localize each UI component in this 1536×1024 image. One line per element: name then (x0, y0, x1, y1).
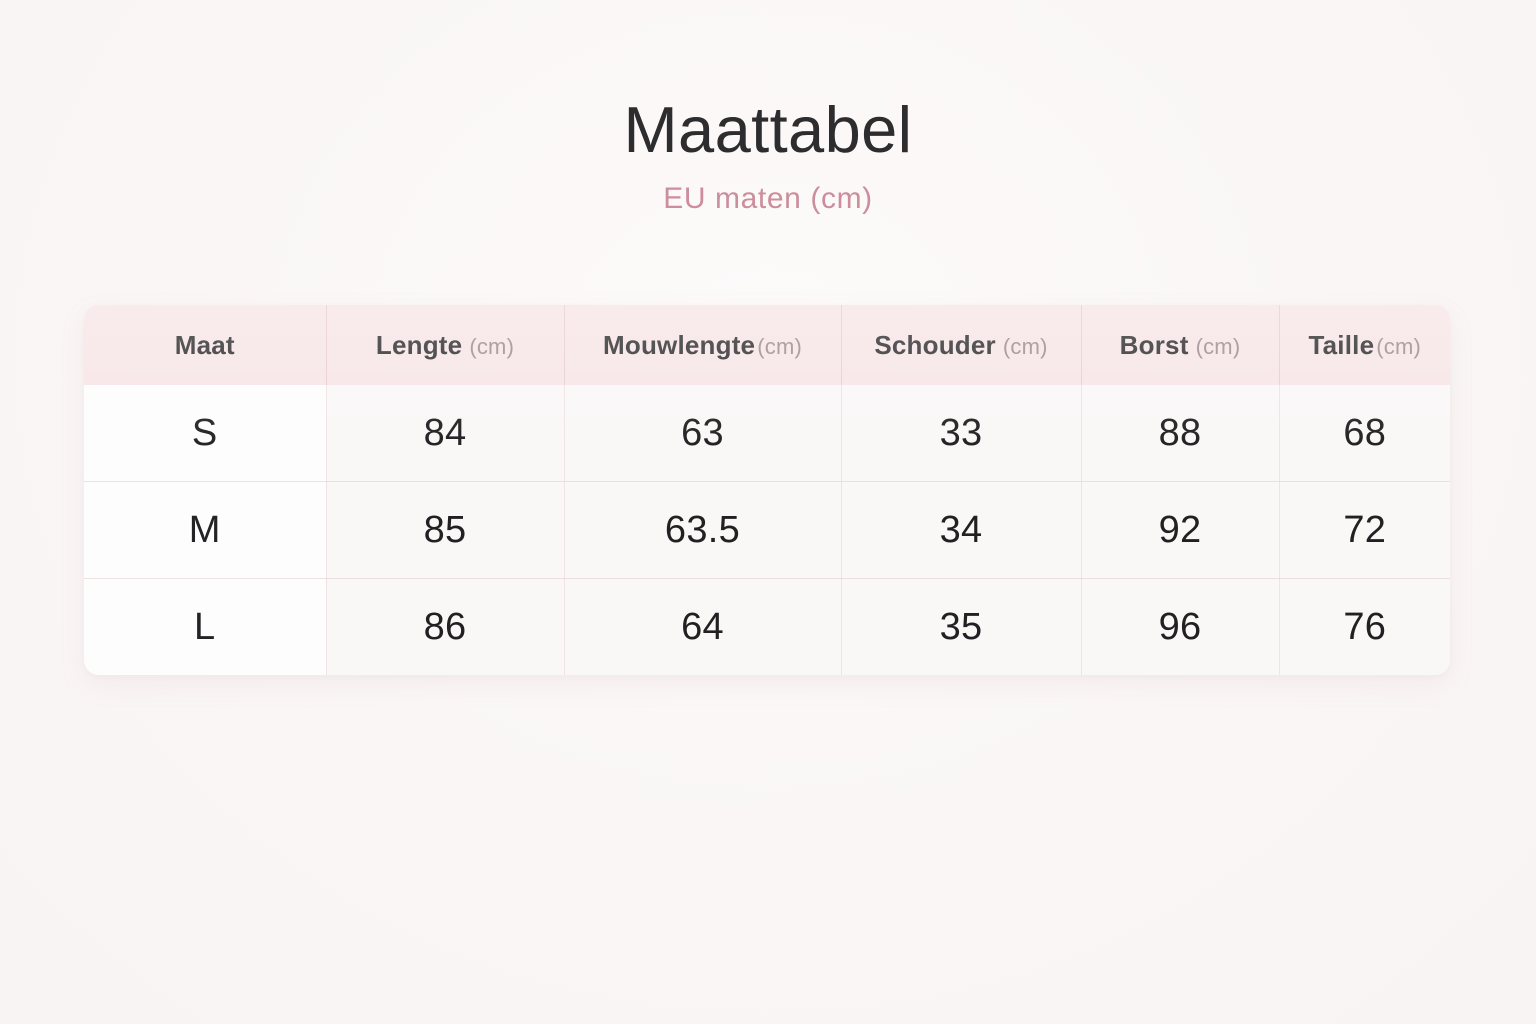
cell-taille: 68 (1279, 385, 1450, 482)
table-row: S 84 63 33 88 68 (84, 385, 1450, 482)
table-row: L 86 64 35 96 76 (84, 579, 1450, 676)
table-header-row: Maat Lengte(cm) Mouwlengte(cm) Schouder(… (84, 305, 1450, 385)
cell-mouwlengte: 63 (564, 385, 841, 482)
cell-schouder: 33 (841, 385, 1081, 482)
column-header-lengte-label: Lengte (376, 330, 462, 360)
column-header-taille: Taille(cm) (1279, 305, 1450, 385)
cell-schouder: 34 (841, 482, 1081, 579)
page-subtitle: EU maten (cm) (0, 182, 1536, 215)
column-header-schouder: Schouder(cm) (841, 305, 1081, 385)
column-header-borst-label: Borst (1120, 330, 1189, 360)
column-header-maat: Maat (84, 305, 326, 385)
page-title: Maattabel (0, 96, 1536, 164)
column-header-mouwlengte-label: Mouwlengte (603, 330, 755, 360)
cell-lengte: 85 (326, 482, 564, 579)
cell-mouwlengte: 64 (564, 579, 841, 676)
size-chart-page: Maattabel EU maten (cm) Maat Lengte(cm) … (0, 0, 1536, 1024)
cell-maat: S (84, 385, 326, 482)
column-header-taille-label: Taille (1308, 330, 1374, 360)
cell-borst: 88 (1081, 385, 1279, 482)
cell-schouder: 35 (841, 579, 1081, 676)
column-header-schouder-unit: (cm) (1003, 334, 1048, 359)
cell-maat: L (84, 579, 326, 676)
cell-maat: M (84, 482, 326, 579)
heading-block: Maattabel EU maten (cm) (0, 96, 1536, 215)
table-header: Maat Lengte(cm) Mouwlengte(cm) Schouder(… (84, 305, 1450, 385)
cell-mouwlengte: 63.5 (564, 482, 841, 579)
cell-lengte: 84 (326, 385, 564, 482)
cell-taille: 72 (1279, 482, 1450, 579)
cell-taille: 76 (1279, 579, 1450, 676)
column-header-borst: Borst(cm) (1081, 305, 1279, 385)
table-row: M 85 63.5 34 92 72 (84, 482, 1450, 579)
cell-borst: 96 (1081, 579, 1279, 676)
column-header-maat-label: Maat (175, 330, 235, 360)
column-header-schouder-label: Schouder (874, 330, 996, 360)
column-header-mouwlengte-unit: (cm) (757, 334, 802, 359)
column-header-borst-unit: (cm) (1196, 334, 1241, 359)
column-header-lengte: Lengte(cm) (326, 305, 564, 385)
column-header-lengte-unit: (cm) (469, 334, 514, 359)
cell-lengte: 86 (326, 579, 564, 676)
cell-borst: 92 (1081, 482, 1279, 579)
size-table: Maat Lengte(cm) Mouwlengte(cm) Schouder(… (84, 305, 1450, 675)
column-header-mouwlengte: Mouwlengte(cm) (564, 305, 841, 385)
column-header-taille-unit: (cm) (1376, 334, 1421, 359)
size-table-card: Maat Lengte(cm) Mouwlengte(cm) Schouder(… (84, 305, 1450, 675)
table-body: S 84 63 33 88 68 M 85 63.5 34 92 72 L (84, 385, 1450, 675)
